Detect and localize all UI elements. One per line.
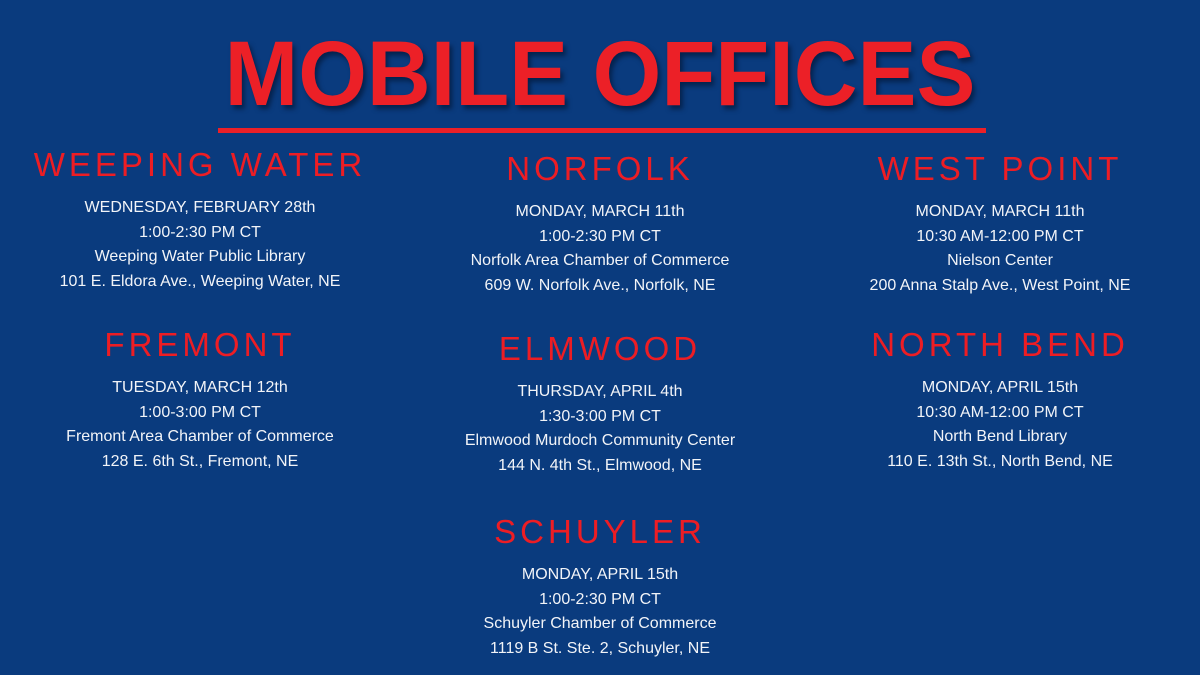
location-address: 200 Anna Stalp Ave., West Point, NE: [800, 274, 1200, 299]
location-city-name: ELMWOOD: [400, 330, 800, 368]
location-details: THURSDAY, APRIL 4th 1:30-3:00 PM CT Elmw…: [400, 380, 800, 478]
location-time: 1:00-2:30 PM CT: [400, 225, 800, 250]
location-city-name: SCHUYLER: [0, 513, 1200, 551]
location-card-schuyler: SCHUYLER MONDAY, APRIL 15th 1:00-2:30 PM…: [0, 513, 1200, 661]
location-venue: Nielson Center: [800, 249, 1200, 274]
location-details: MONDAY, MARCH 11th 10:30 AM-12:00 PM CT …: [800, 200, 1200, 298]
location-card-fremont: FREMONT TUESDAY, MARCH 12th 1:00-3:00 PM…: [0, 326, 400, 478]
location-time: 1:00-2:30 PM CT: [0, 588, 1200, 613]
location-card-north-bend: NORTH BEND MONDAY, APRIL 15th 10:30 AM-1…: [800, 326, 1200, 478]
location-venue: Schuyler Chamber of Commerce: [0, 612, 1200, 637]
location-card-elmwood: ELMWOOD THURSDAY, APRIL 4th 1:30-3:00 PM…: [400, 330, 800, 478]
location-address: 110 E. 13th St., North Bend, NE: [800, 450, 1200, 475]
location-details: MONDAY, MARCH 11th 1:00-2:30 PM CT Norfo…: [400, 200, 800, 298]
location-city-name: NORFOLK: [400, 150, 800, 188]
location-address: 128 E. 6th St., Fremont, NE: [0, 450, 400, 475]
location-time: 10:30 AM-12:00 PM CT: [800, 225, 1200, 250]
location-time: 1:00-2:30 PM CT: [0, 221, 400, 246]
location-details: MONDAY, APRIL 15th 1:00-2:30 PM CT Schuy…: [0, 563, 1200, 661]
location-date: WEDNESDAY, FEBRUARY 28th: [0, 196, 400, 221]
location-city-name: NORTH BEND: [800, 326, 1200, 364]
location-date: MONDAY, MARCH 11th: [400, 200, 800, 225]
location-details: WEDNESDAY, FEBRUARY 28th 1:00-2:30 PM CT…: [0, 196, 400, 294]
location-time: 1:00-3:00 PM CT: [0, 401, 400, 426]
location-city-name: WEST POINT: [800, 150, 1200, 188]
location-time: 10:30 AM-12:00 PM CT: [800, 401, 1200, 426]
locations-row-2: FREMONT TUESDAY, MARCH 12th 1:00-3:00 PM…: [0, 326, 1200, 478]
location-venue: Elmwood Murdoch Community Center: [400, 429, 800, 454]
poster-header: MOBILE OFFICES: [0, 26, 1200, 122]
locations-row-1: WEEPING WATER WEDNESDAY, FEBRUARY 28th 1…: [0, 146, 1200, 298]
location-address: 144 N. 4th St., Elmwood, NE: [400, 454, 800, 479]
page-title: MOBILE OFFICES: [24, 26, 1176, 122]
location-address: 101 E. Eldora Ave., Weeping Water, NE: [0, 270, 400, 295]
location-venue: Fremont Area Chamber of Commerce: [0, 425, 400, 450]
location-address: 609 W. Norfolk Ave., Norfolk, NE: [400, 274, 800, 299]
location-details: TUESDAY, MARCH 12th 1:00-3:00 PM CT Frem…: [0, 376, 400, 474]
location-address: 1119 B St. Ste. 2, Schuyler, NE: [0, 637, 1200, 662]
locations-grid: WEEPING WATER WEDNESDAY, FEBRUARY 28th 1…: [0, 146, 1200, 478]
location-venue: Weeping Water Public Library: [0, 245, 400, 270]
location-venue: Norfolk Area Chamber of Commerce: [400, 249, 800, 274]
location-date: MONDAY, APRIL 15th: [0, 563, 1200, 588]
location-date: MONDAY, MARCH 11th: [800, 200, 1200, 225]
location-date: THURSDAY, APRIL 4th: [400, 380, 800, 405]
mobile-offices-poster: MOBILE OFFICES WEEPING WATER WEDNESDAY, …: [0, 0, 1200, 675]
location-details: MONDAY, APRIL 15th 10:30 AM-12:00 PM CT …: [800, 376, 1200, 474]
location-city-name: WEEPING WATER: [0, 146, 400, 184]
location-date: MONDAY, APRIL 15th: [800, 376, 1200, 401]
location-date: TUESDAY, MARCH 12th: [0, 376, 400, 401]
location-time: 1:30-3:00 PM CT: [400, 405, 800, 430]
location-card-norfolk: NORFOLK MONDAY, MARCH 11th 1:00-2:30 PM …: [400, 150, 800, 298]
location-card-weeping-water: WEEPING WATER WEDNESDAY, FEBRUARY 28th 1…: [0, 146, 400, 298]
location-city-name: FREMONT: [0, 326, 400, 364]
location-venue: North Bend Library: [800, 425, 1200, 450]
title-underline-rule: [218, 128, 986, 133]
location-card-west-point: WEST POINT MONDAY, MARCH 11th 10:30 AM-1…: [800, 150, 1200, 298]
